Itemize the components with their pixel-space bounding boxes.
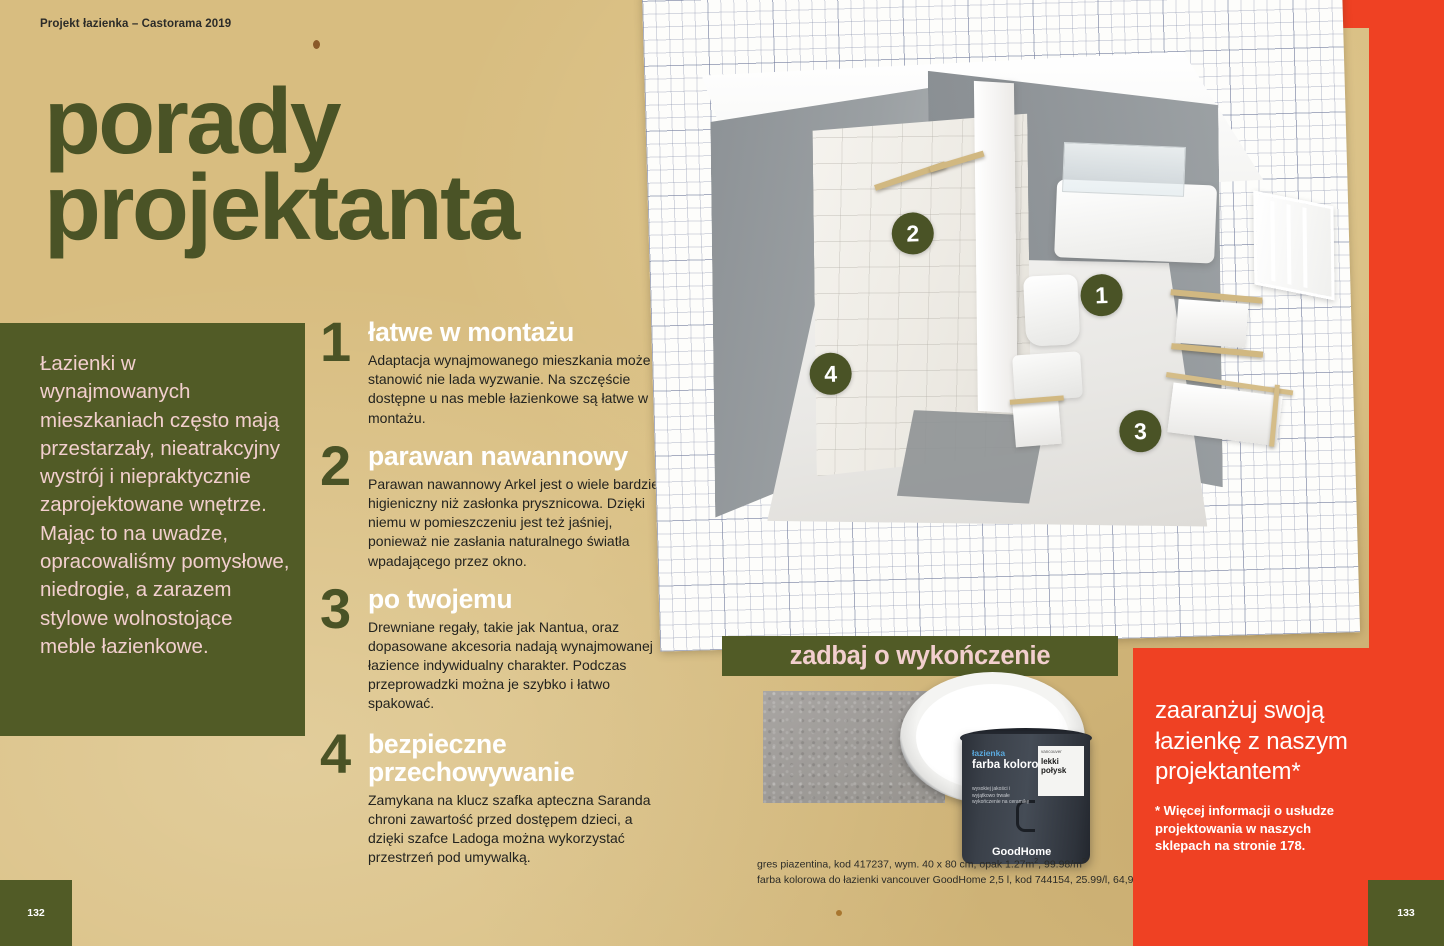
page-title-line-1: porady [44, 78, 518, 164]
bathroom-3d-room [692, 50, 1310, 537]
tip-item: 4 bezpieczne przechowywanie Zamykana na … [320, 730, 665, 868]
tip-heading: łatwe w montażu [368, 318, 665, 346]
promo-text-block: zaaranżuj swoją łazienkę z naszym projek… [1155, 696, 1355, 855]
tip-number: 3 [320, 581, 360, 637]
tip-heading: bezpieczne przechowywanie [368, 730, 665, 786]
paint-label-top: vancouver [1041, 749, 1062, 754]
paper-speck [313, 40, 320, 49]
paint-label-finish: lekki połysk [1041, 757, 1084, 775]
intro-text: Łazienki w wynajmowanych mieszkaniach cz… [40, 350, 290, 661]
paint-fine-print: wysokiej jakości i wyjątkowo trwałe wyko… [972, 786, 1030, 806]
tip-body: Adaptacja wynajmowanego mieszkania może … [368, 351, 665, 428]
paint-pail: łazienka farba kolorowa wysokiej jakości… [962, 734, 1090, 864]
intro-box: Łazienki w wynajmowanych mieszkaniach cz… [0, 323, 305, 736]
tip-number: 1 [320, 314, 360, 370]
finishing-banner: zadbaj o wykończenie [722, 636, 1118, 676]
tip-body: Parawan nawannowy Arkel jest o wiele bar… [368, 475, 665, 571]
tip-item: 2 parawan nawannowy Parawan nawannowy Ar… [320, 442, 665, 571]
magazine-spread: Projekt łazienka – Castorama 2019 porady… [0, 0, 1444, 946]
caption-line-1: gres piazentina, kod 417237, wym. 40 x 8… [757, 857, 1157, 873]
bathroom-render-photo: 1 2 3 4 [642, 0, 1360, 652]
page-number-right: 133 [1368, 880, 1444, 946]
page-number-left: 132 [0, 880, 72, 946]
under-basin-cabinet [1012, 400, 1061, 448]
bath-screen [1062, 142, 1186, 197]
product-captions: gres piazentina, kod 417237, wym. 40 x 8… [757, 857, 1157, 888]
finishing-banner-heading: zadbaj o wykończenie [790, 642, 1050, 671]
tip-item: 1 łatwe w montażu Adaptacja wynajmowaneg… [320, 318, 665, 428]
paper-speck [836, 910, 842, 916]
washbasin [1012, 351, 1083, 401]
tip-item: 3 po twojemu Drewniane regały, takie jak… [320, 585, 665, 714]
tip-number: 2 [320, 438, 360, 494]
room-partition-wall [974, 81, 1018, 413]
promo-footnote: * Więcej informacji o usłudze projektowa… [1155, 802, 1355, 855]
tip-body: Zamykana na klucz szafka apteczna Sarand… [368, 791, 665, 868]
tips-list: 1 łatwe w montażu Adaptacja wynajmowaneg… [320, 318, 665, 873]
toilet [1023, 274, 1080, 346]
wall-cabinet [1175, 299, 1248, 348]
paint-bucket-image: łazienka farba kolorowa wysokiej jakości… [900, 672, 1130, 872]
tip-heading: po twojemu [368, 585, 665, 613]
paint-color-label: vancouver lekki połysk [1038, 746, 1084, 796]
red-accent-bar-edge [1369, 0, 1444, 946]
caption-line-2: farba kolorowa do łazienki vancouver Goo… [757, 873, 1157, 888]
promo-heading: zaaranżuj swoją łazienkę z naszym projek… [1155, 696, 1355, 788]
running-head: Projekt łazienka – Castorama 2019 [40, 18, 231, 30]
tip-number: 4 [320, 726, 360, 782]
tip-body: Drewniane regały, takie jak Nantua, oraz… [368, 618, 665, 714]
window [1253, 190, 1334, 300]
tip-heading: parawan nawannowy [368, 442, 665, 470]
page-title: porady projektanta [44, 78, 518, 251]
paint-brand-line: łazienka [972, 748, 1005, 758]
page-title-line-2: projektanta [44, 164, 518, 250]
